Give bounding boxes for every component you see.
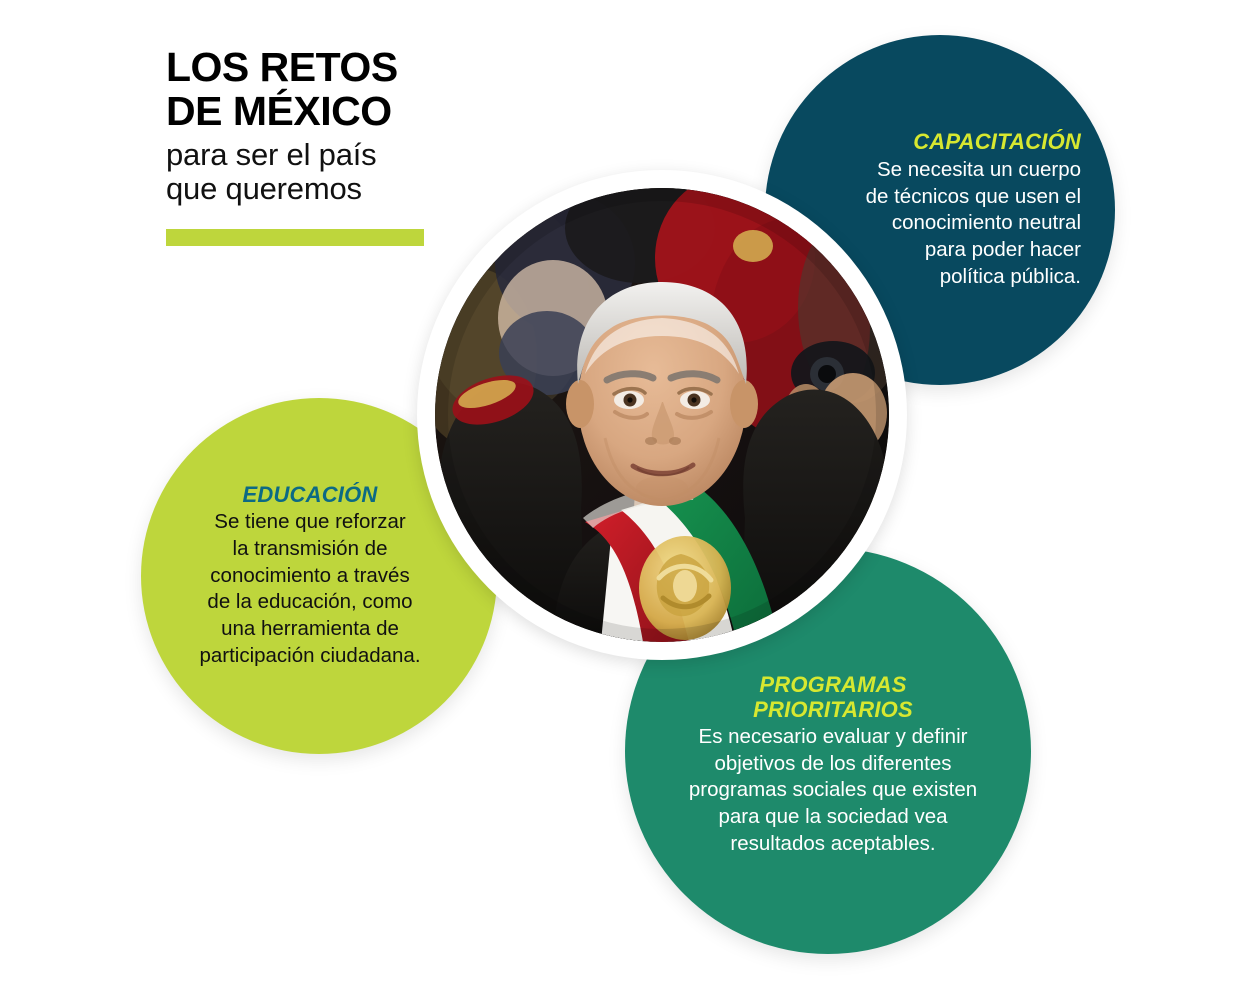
page-subtitle: para ser el país que queremos <box>166 138 586 207</box>
poster-canvas: LOS RETOS DE MÉXICO para ser el país que… <box>0 0 1250 1000</box>
bubble-capacitacion-heading: CAPACITACIÓN <box>835 130 1081 155</box>
title-accent-rule <box>166 229 424 246</box>
page-title: LOS RETOS DE MÉXICO <box>166 46 586 134</box>
portrait-circle <box>417 170 907 660</box>
bubble-programas-body: Es necesario evaluar y definir objetivos… <box>679 724 987 857</box>
bubble-educacion-heading: EDUCACIÓN <box>179 483 441 508</box>
portrait-illustration <box>435 188 889 642</box>
bubble-programas-heading: PROGRAMAS PRIORITARIOS <box>679 672 987 722</box>
portrait-image <box>435 188 889 642</box>
bubble-educacion-body: Se tiene que reforzar la transmisión de … <box>179 509 441 669</box>
bubble-capacitacion-body: Se necesita un cuerpo de técnicos que us… <box>835 157 1081 290</box>
bubble-programas-text-group: PROGRAMAS PRIORITARIOS Es necesario eval… <box>679 672 987 857</box>
